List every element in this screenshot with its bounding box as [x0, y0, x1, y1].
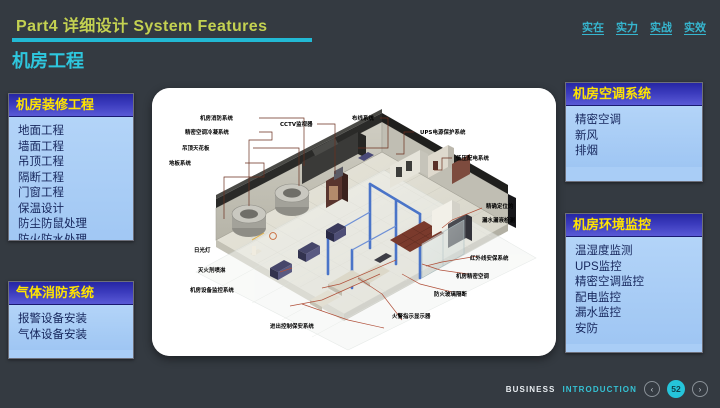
- diagram-label: 精确定位的: [486, 202, 514, 210]
- diagram-label: 布线系统: [352, 114, 374, 122]
- footer: BUSINESS INTRODUCTION ‹ 52 ›: [506, 380, 708, 398]
- panel-body: 温湿度监测 UPS监控 精密空调监控 配电监控 漏水监控 安防: [566, 237, 702, 344]
- diagram-label: 漏水漏液检测: [482, 216, 515, 224]
- header-link-4[interactable]: 实效: [684, 19, 706, 35]
- diagram-label: 机房消防系统: [200, 114, 233, 122]
- diagram-label: 机房精密空调: [456, 272, 489, 280]
- panel-environment-monitoring: 机房环境监控 温湿度监测 UPS监控 精密空调监控 配电监控 漏水监控 安防: [565, 213, 703, 353]
- brand-secondary: INTRODUCTION: [562, 385, 637, 394]
- brand-primary: BUSINESS: [506, 385, 556, 394]
- diagram-label: 地板系统: [169, 159, 191, 167]
- list-item: 防火防水处理: [18, 233, 133, 242]
- panel-heading: 机房环境监控: [566, 214, 702, 237]
- list-item: 安防: [575, 322, 702, 338]
- list-item: 气体设备安装: [18, 328, 133, 344]
- list-item: 墙面工程: [18, 140, 133, 156]
- header-link-1[interactable]: 实在: [582, 19, 604, 35]
- list-item: 配电监控: [575, 291, 702, 307]
- list-item: 门窗工程: [18, 186, 133, 202]
- panel-body: 报警设备安装 气体设备安装: [9, 305, 133, 350]
- datacenter-isometric-illustration: 机房消防系统 精密空调冷凝系统 吊顶天花板 地板系统 CCTV监视器 布线系统 …: [152, 88, 556, 356]
- diagram-label: 精密空调冷凝系统: [185, 128, 229, 136]
- title-underline-rule: [12, 38, 312, 42]
- diagram-label: 吊顶天花板: [182, 144, 210, 152]
- list-item: UPS监控: [575, 260, 702, 276]
- chevron-right-icon[interactable]: ›: [692, 381, 708, 397]
- list-item: 漏水监控: [575, 306, 702, 322]
- list-item: 隔断工程: [18, 171, 133, 187]
- panel-heading: 气体消防系统: [9, 282, 133, 305]
- list-item: 新风: [575, 129, 702, 145]
- list-item: 温湿度监测: [575, 244, 702, 260]
- diagram-label: 红外线安保系统: [470, 254, 509, 262]
- list-item: 精密空调监控: [575, 275, 702, 291]
- page-subtitle: 机房工程: [12, 47, 84, 73]
- page-number-badge: 52: [667, 380, 685, 398]
- datacenter-diagram-card: 机房消防系统 精密空调冷凝系统 吊顶天花板 地板系统 CCTV监视器 布线系统 …: [152, 88, 556, 356]
- list-item: 报警设备安装: [18, 312, 133, 328]
- diagram-label: 日光灯: [194, 246, 211, 254]
- panel-body: 精密空调 新风 排烟: [566, 106, 702, 167]
- panel-heading: 机房空调系统: [566, 83, 702, 106]
- header-link-2[interactable]: 实力: [616, 19, 638, 35]
- page-title: Part4 详细设计 System Features: [16, 12, 267, 36]
- slide-canvas: Part4 详细设计 System Features 机房工程 实在 实力 实战…: [0, 0, 720, 408]
- panel-gas-fire-system: 气体消防系统 报警设备安装 气体设备安装: [8, 281, 134, 359]
- list-item: 排烟: [575, 144, 702, 160]
- list-item: 保温设计: [18, 202, 133, 218]
- panel-hvac-system: 机房空调系统 精密空调 新风 排烟: [565, 82, 703, 182]
- diagram-label: 防火玻璃隔断: [434, 290, 467, 298]
- panel-body: 地面工程 墙面工程 吊顶工程 隔断工程 门窗工程 保温设计 防尘防鼠处理 防火防…: [9, 117, 133, 241]
- diagram-label: UPS电源保护系统: [420, 128, 466, 136]
- diagram-label: 低压配电系统: [455, 154, 489, 162]
- diagram-label: 灭火剂喷淋: [197, 266, 226, 274]
- panel-decoration-engineering: 机房装修工程 地面工程 墙面工程 吊顶工程 隔断工程 门窗工程 保温设计 防尘防…: [8, 93, 134, 241]
- header-link-3[interactable]: 实战: [650, 19, 672, 35]
- header-links: 实在 实力 实战 实效: [582, 19, 706, 35]
- diagram-label: 火警指示显示器: [392, 312, 431, 320]
- list-item: 吊顶工程: [18, 155, 133, 171]
- list-item: 精密空调: [575, 113, 702, 129]
- list-item: 防尘防鼠处理: [18, 217, 133, 233]
- chevron-left-icon[interactable]: ‹: [644, 381, 660, 397]
- diagram-label: 进出控制保安系统: [270, 322, 314, 330]
- panel-heading: 机房装修工程: [9, 94, 133, 117]
- diagram-label: 机房设备监控系统: [190, 286, 234, 294]
- list-item: 地面工程: [18, 124, 133, 140]
- diagram-label: CCTV监视器: [280, 120, 313, 128]
